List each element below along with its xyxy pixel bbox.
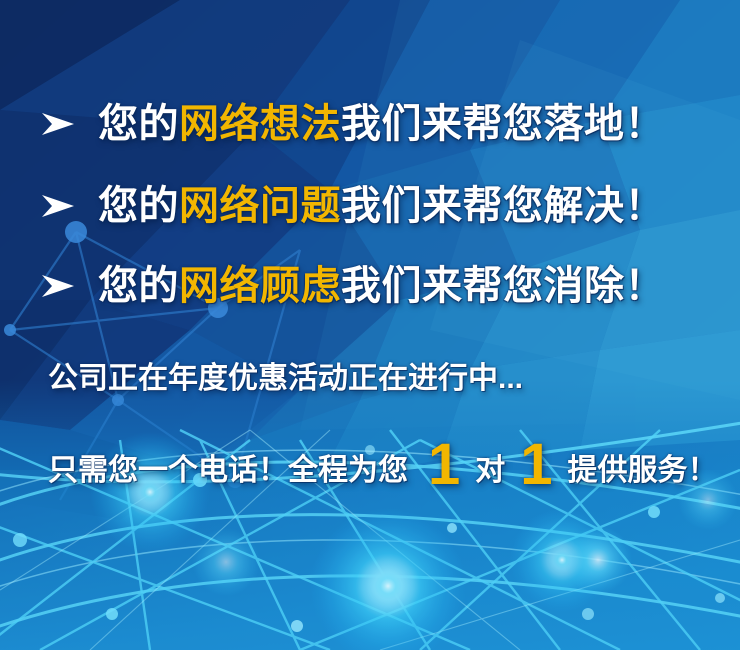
promo-banner: 您的网络想法我们来帮您落地！ 您的网络问题我们来帮您解决！ 您的网络顾虑我们来帮… [0, 0, 740, 650]
service-text-middle: 对 [475, 456, 505, 486]
headline-row-2: 您的网络问题我们来帮您解决！ [40, 186, 665, 226]
headline-3-suffix: 我们来帮您消除！ [341, 264, 665, 308]
service-line: 只需您一个电话！全程为您 1 对 1 提供服务！ [48, 432, 718, 490]
headline-1-prefix: 您的 [98, 102, 179, 146]
headline-3-prefix: 您的 [98, 264, 179, 308]
headline-1-highlight: 网络想法 [179, 102, 341, 146]
headline-2-highlight: 网络问题 [179, 184, 341, 228]
headline-text-3: 您的网络顾虑我们来帮您消除！ [98, 266, 665, 306]
headline-text-2: 您的网络问题我们来帮您解决！ [98, 186, 665, 226]
service-text-part1: 只需您一个电话！全程为您 [48, 456, 408, 486]
service-number-second: 1 [514, 436, 558, 494]
headline-row-1: 您的网络想法我们来帮您落地！ [40, 104, 665, 144]
arrow-right-triangle-icon [40, 111, 76, 137]
headline-2-prefix: 您的 [98, 184, 179, 228]
service-text-part2: 提供服务！ [568, 456, 718, 486]
headline-text-1: 您的网络想法我们来帮您落地！ [98, 104, 665, 144]
arrow-right-triangle-icon [40, 273, 76, 299]
headline-row-3: 您的网络顾虑我们来帮您消除！ [40, 266, 665, 306]
headline-1-suffix: 我们来帮您落地！ [341, 102, 665, 146]
arrow-right-triangle-icon [40, 193, 76, 219]
headline-3-highlight: 网络顾虑 [179, 264, 341, 308]
headline-2-suffix: 我们来帮您解决！ [341, 184, 665, 228]
promo-line: 公司正在年度优惠活动正在进行中... [48, 364, 523, 394]
service-number-first: 1 [422, 436, 466, 494]
